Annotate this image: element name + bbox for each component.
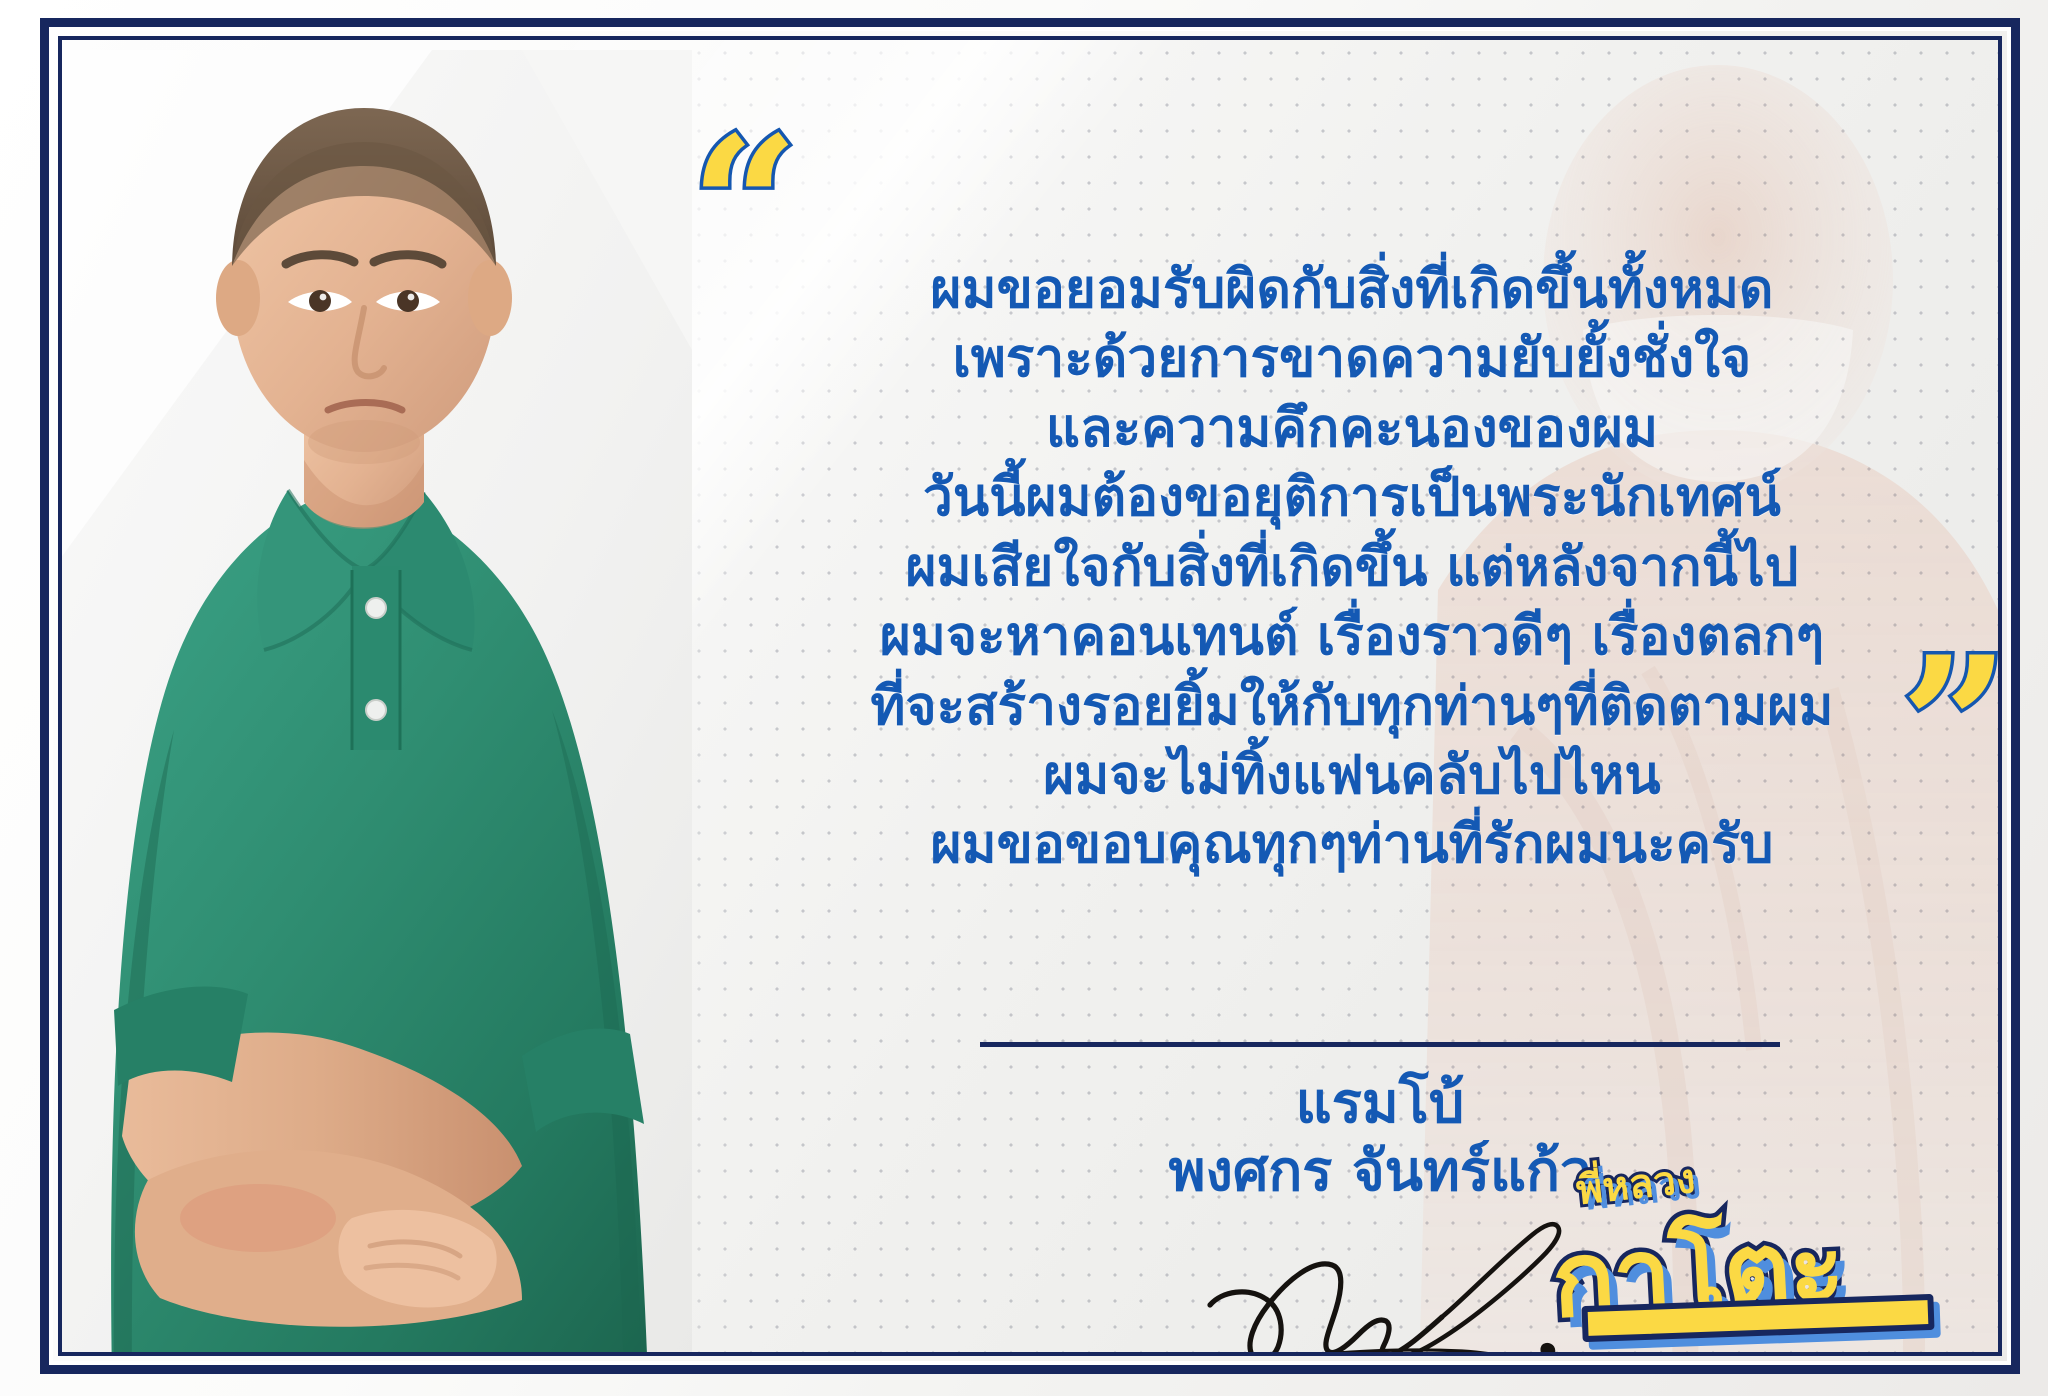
- quote-line: ผมจะหาคอนเทนต์ เรื่องราวดีๆ เรื่องตลกๆ: [662, 602, 1998, 671]
- attribution-block: แรมโบ้ พงศกร จันทร์แก้ว: [980, 1070, 1780, 1207]
- quote-line: ผมเสียใจกับสิ่งที่เกิดขึ้น แต่หลังจากนี้…: [662, 533, 1998, 602]
- quote-line: ผมขอยอมรับผิดกับสิ่งที่เกิดขึ้นทั้งหมด: [662, 255, 1998, 324]
- quote-line: และความคึกคะนองของผม: [662, 394, 1998, 463]
- quote-line: ผมจะไม่ทิ้งแฟนคลับไปไหน: [662, 741, 1998, 810]
- quote-line: ผมขอขอบคุณทุกๆท่านที่รักผมนะครับ: [662, 810, 1998, 879]
- quote-card: “ ผมขอยอมรับผิดกับสิ่งที่เกิดขึ้นทั้งหมด…: [0, 0, 2048, 1396]
- attribution-nickname: แรมโบ้: [980, 1070, 1780, 1138]
- quote-text: ผมขอยอมรับผิดกับสิ่งที่เกิดขึ้นทั้งหมด เ…: [662, 255, 1998, 880]
- quote-line: วันนี้ผมต้องขอยุติการเป็นพระนักเทศน์: [662, 463, 1998, 532]
- portrait-photo: [62, 50, 692, 1352]
- quote-line: ที่จะสร้างรอยยิ้มให้กับทุกท่านๆที่ติดตาม…: [662, 672, 1998, 741]
- attribution-fullname: พงศกร จันทร์แก้ว: [980, 1138, 1780, 1206]
- quote-close-mark: ”: [1900, 632, 1998, 822]
- divider-line: [980, 1042, 1780, 1047]
- logo-main-text: กาโตะ: [1548, 1183, 1847, 1352]
- logo-underline-bar: [1581, 1294, 1934, 1342]
- card-panel: “ ผมขอยอมรับผิดกับสิ่งที่เกิดขึ้นทั้งหมด…: [62, 40, 1998, 1352]
- signature-mark: [1192, 1205, 1612, 1352]
- quote-line: เพราะด้วยการขาดความยับยั้งชั่งใจ: [662, 324, 1998, 393]
